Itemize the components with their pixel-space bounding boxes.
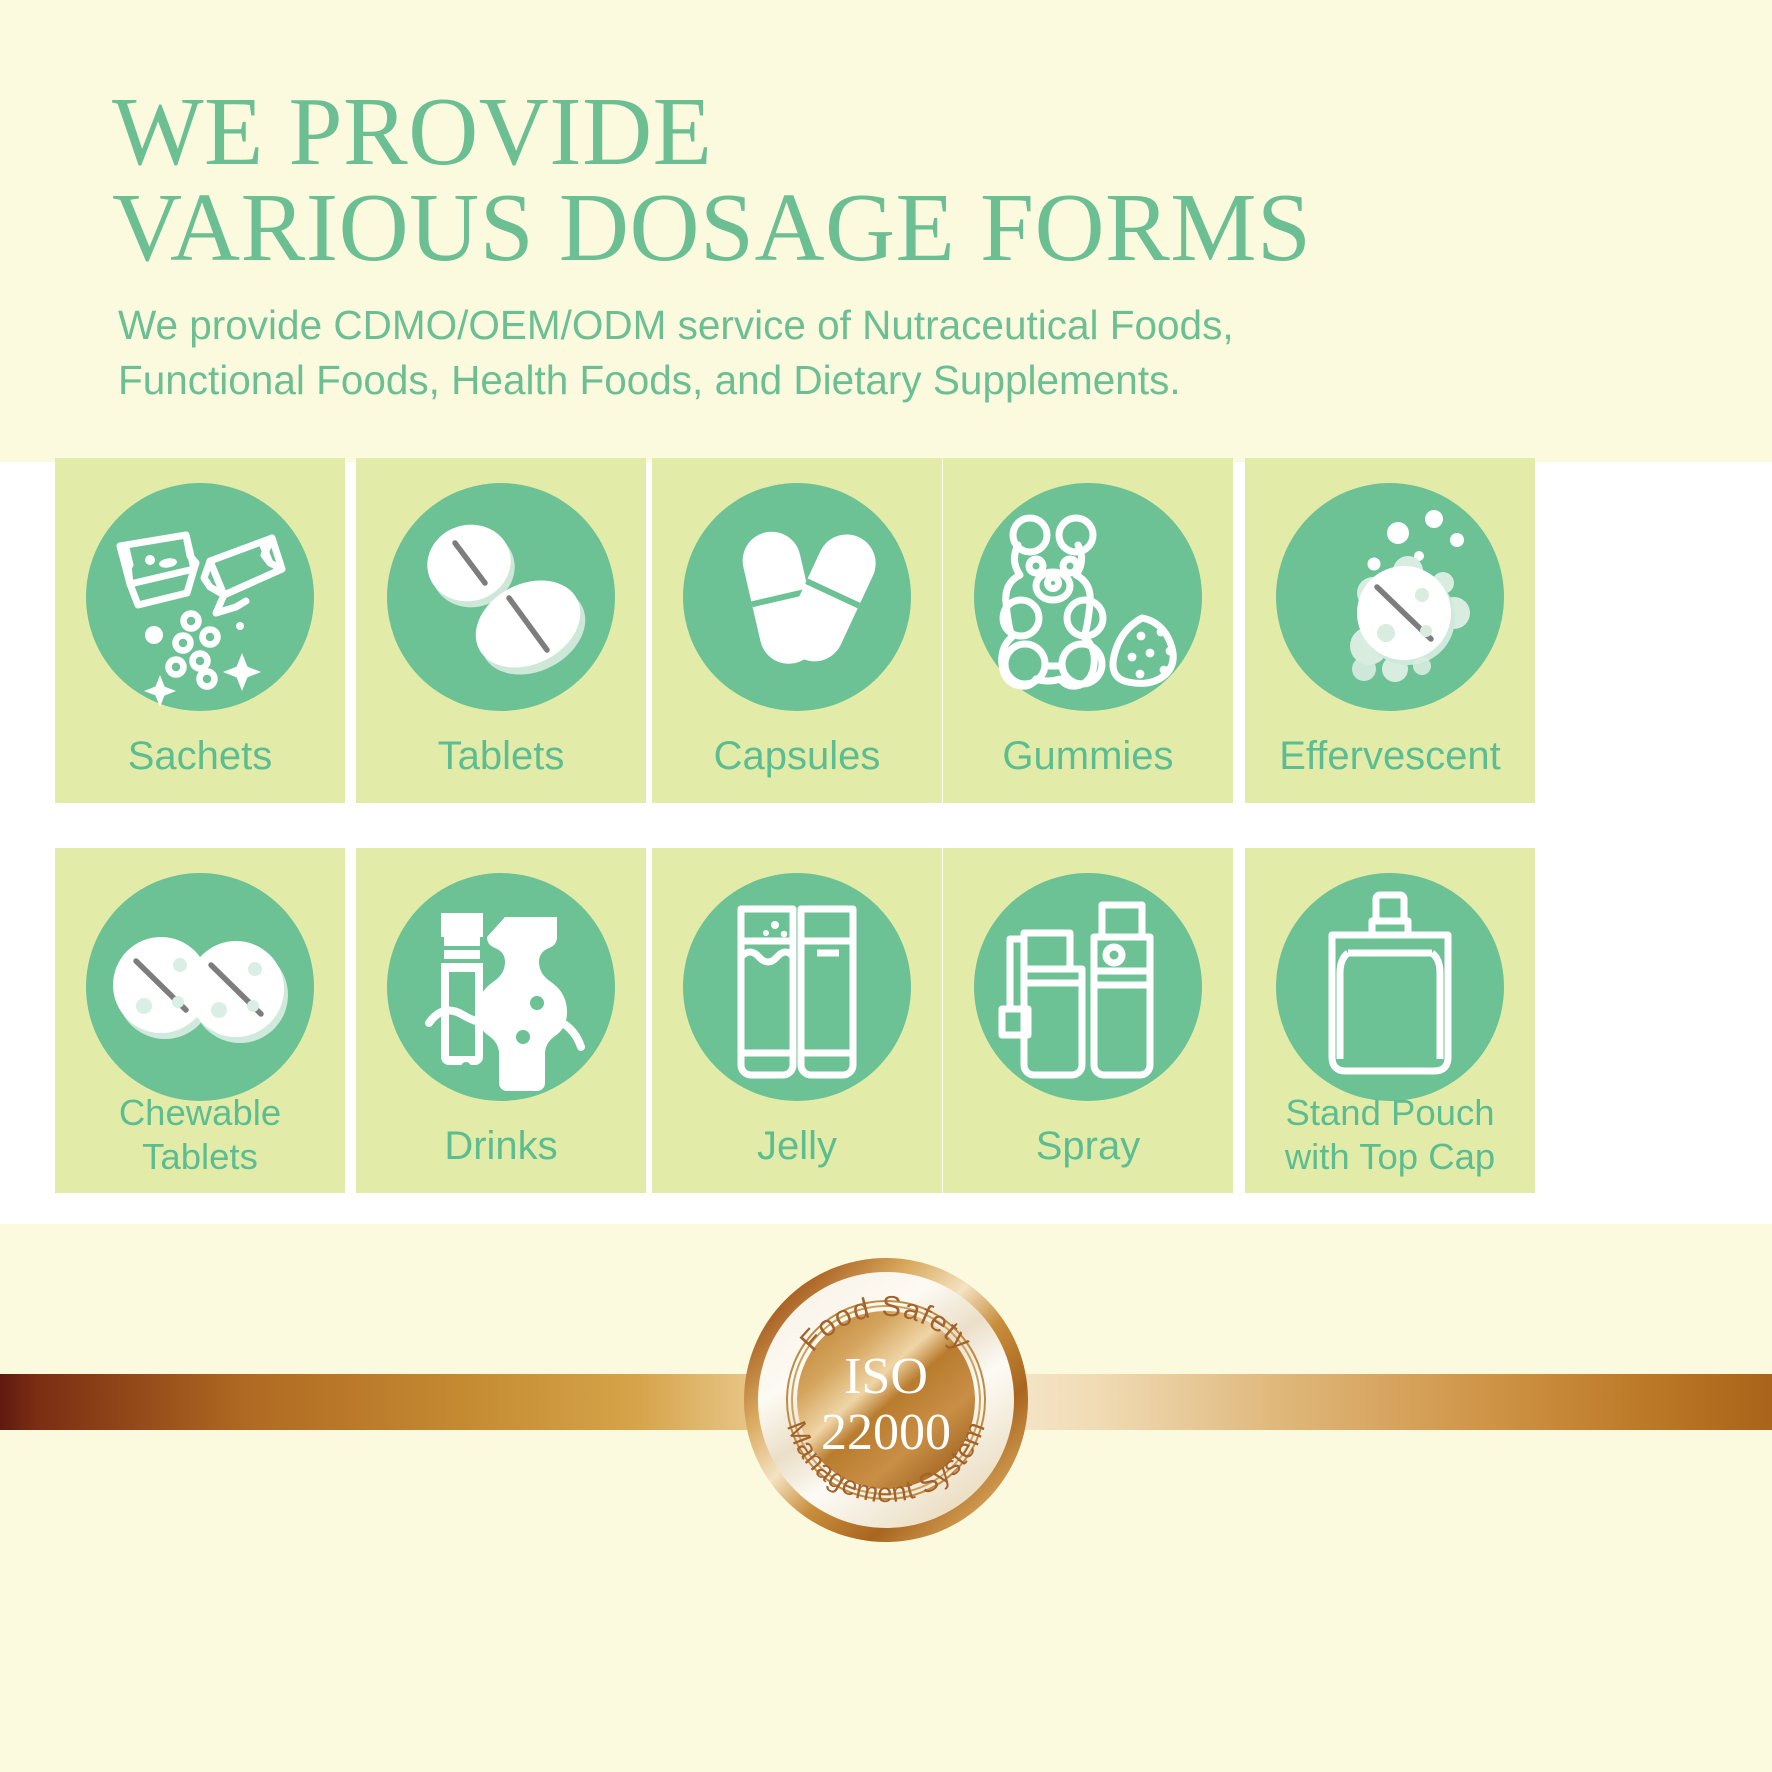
spray-bottle-icon — [974, 873, 1202, 1101]
card-spray[interactable]: Spray — [943, 848, 1233, 1193]
card-label: Effervescent — [1245, 734, 1535, 779]
capsule-icon — [683, 483, 911, 711]
tablet-icon — [387, 483, 615, 711]
card-label-line-1: Chewable — [119, 1092, 281, 1133]
page-title: WE PROVIDE VARIOUS DOSAGE FORMS — [112, 84, 1612, 276]
badge-iso-text: ISO — [844, 1348, 928, 1405]
card-label: Spray — [943, 1124, 1233, 1169]
subtitle-line-1: We provide CDMO/OEM/ODM service of Nutra… — [118, 298, 1678, 353]
stand-pouch-icon — [1276, 873, 1504, 1101]
subtitle-line-2: Functional Foods, Health Foods, and Diet… — [118, 353, 1678, 408]
badge-number-text: 22000 — [821, 1404, 951, 1461]
card-sachets[interactable]: Sachets — [55, 458, 345, 803]
card-capsules[interactable]: Capsules — [652, 458, 942, 803]
poster-root: WE PROVIDE VARIOUS DOSAGE FORMS We provi… — [0, 0, 1772, 1772]
iso-22000-badge: Food Safety Management System ISO 22000 — [742, 1256, 1030, 1544]
card-gummies[interactable]: Gummies — [943, 458, 1233, 803]
card-chewable-tablets[interactable]: Chewable Tablets — [55, 848, 345, 1193]
drink-bottle-icon — [387, 873, 615, 1101]
card-label-line-1: Stand Pouch — [1285, 1092, 1494, 1133]
chewable-tablet-icon — [86, 873, 314, 1101]
title-line-2: VARIOUS DOSAGE FORMS — [112, 180, 1612, 276]
dosage-row-1: Sachets Tablets — [55, 458, 1727, 803]
header-band: WE PROVIDE VARIOUS DOSAGE FORMS We provi… — [0, 0, 1772, 462]
sachet-icon — [86, 483, 314, 711]
card-label: Capsules — [652, 734, 942, 779]
jelly-stick-icon — [683, 873, 911, 1101]
card-label: Chewable Tablets — [55, 1091, 345, 1179]
dosage-row-2: Chewable Tablets — [55, 848, 1727, 1193]
card-label: Tablets — [356, 734, 646, 779]
card-label: Stand Pouch with Top Cap — [1245, 1091, 1535, 1179]
card-label: Gummies — [943, 734, 1233, 779]
dosage-forms-grid: Sachets Tablets — [0, 462, 1772, 1224]
page-subtitle: We provide CDMO/OEM/ODM service of Nutra… — [118, 298, 1678, 408]
card-label: Drinks — [356, 1124, 646, 1169]
card-label: Sachets — [55, 734, 345, 779]
card-drinks[interactable]: Drinks — [356, 848, 646, 1193]
card-tablets[interactable]: Tablets — [356, 458, 646, 803]
card-label-line-2: Tablets — [142, 1136, 258, 1177]
footer-band: Food Safety Management System ISO 22000 — [0, 1224, 1772, 1772]
title-line-1: WE PROVIDE — [112, 84, 1612, 180]
card-stand-pouch[interactable]: Stand Pouch with Top Cap — [1245, 848, 1535, 1193]
card-effervescent[interactable]: Effervescent — [1245, 458, 1535, 803]
card-label-line-2: with Top Cap — [1285, 1136, 1495, 1177]
gummy-bear-icon — [974, 483, 1202, 711]
card-label: Jelly — [652, 1124, 942, 1169]
card-jelly[interactable]: Jelly — [652, 848, 942, 1193]
effervescent-tablet-icon — [1276, 483, 1504, 711]
